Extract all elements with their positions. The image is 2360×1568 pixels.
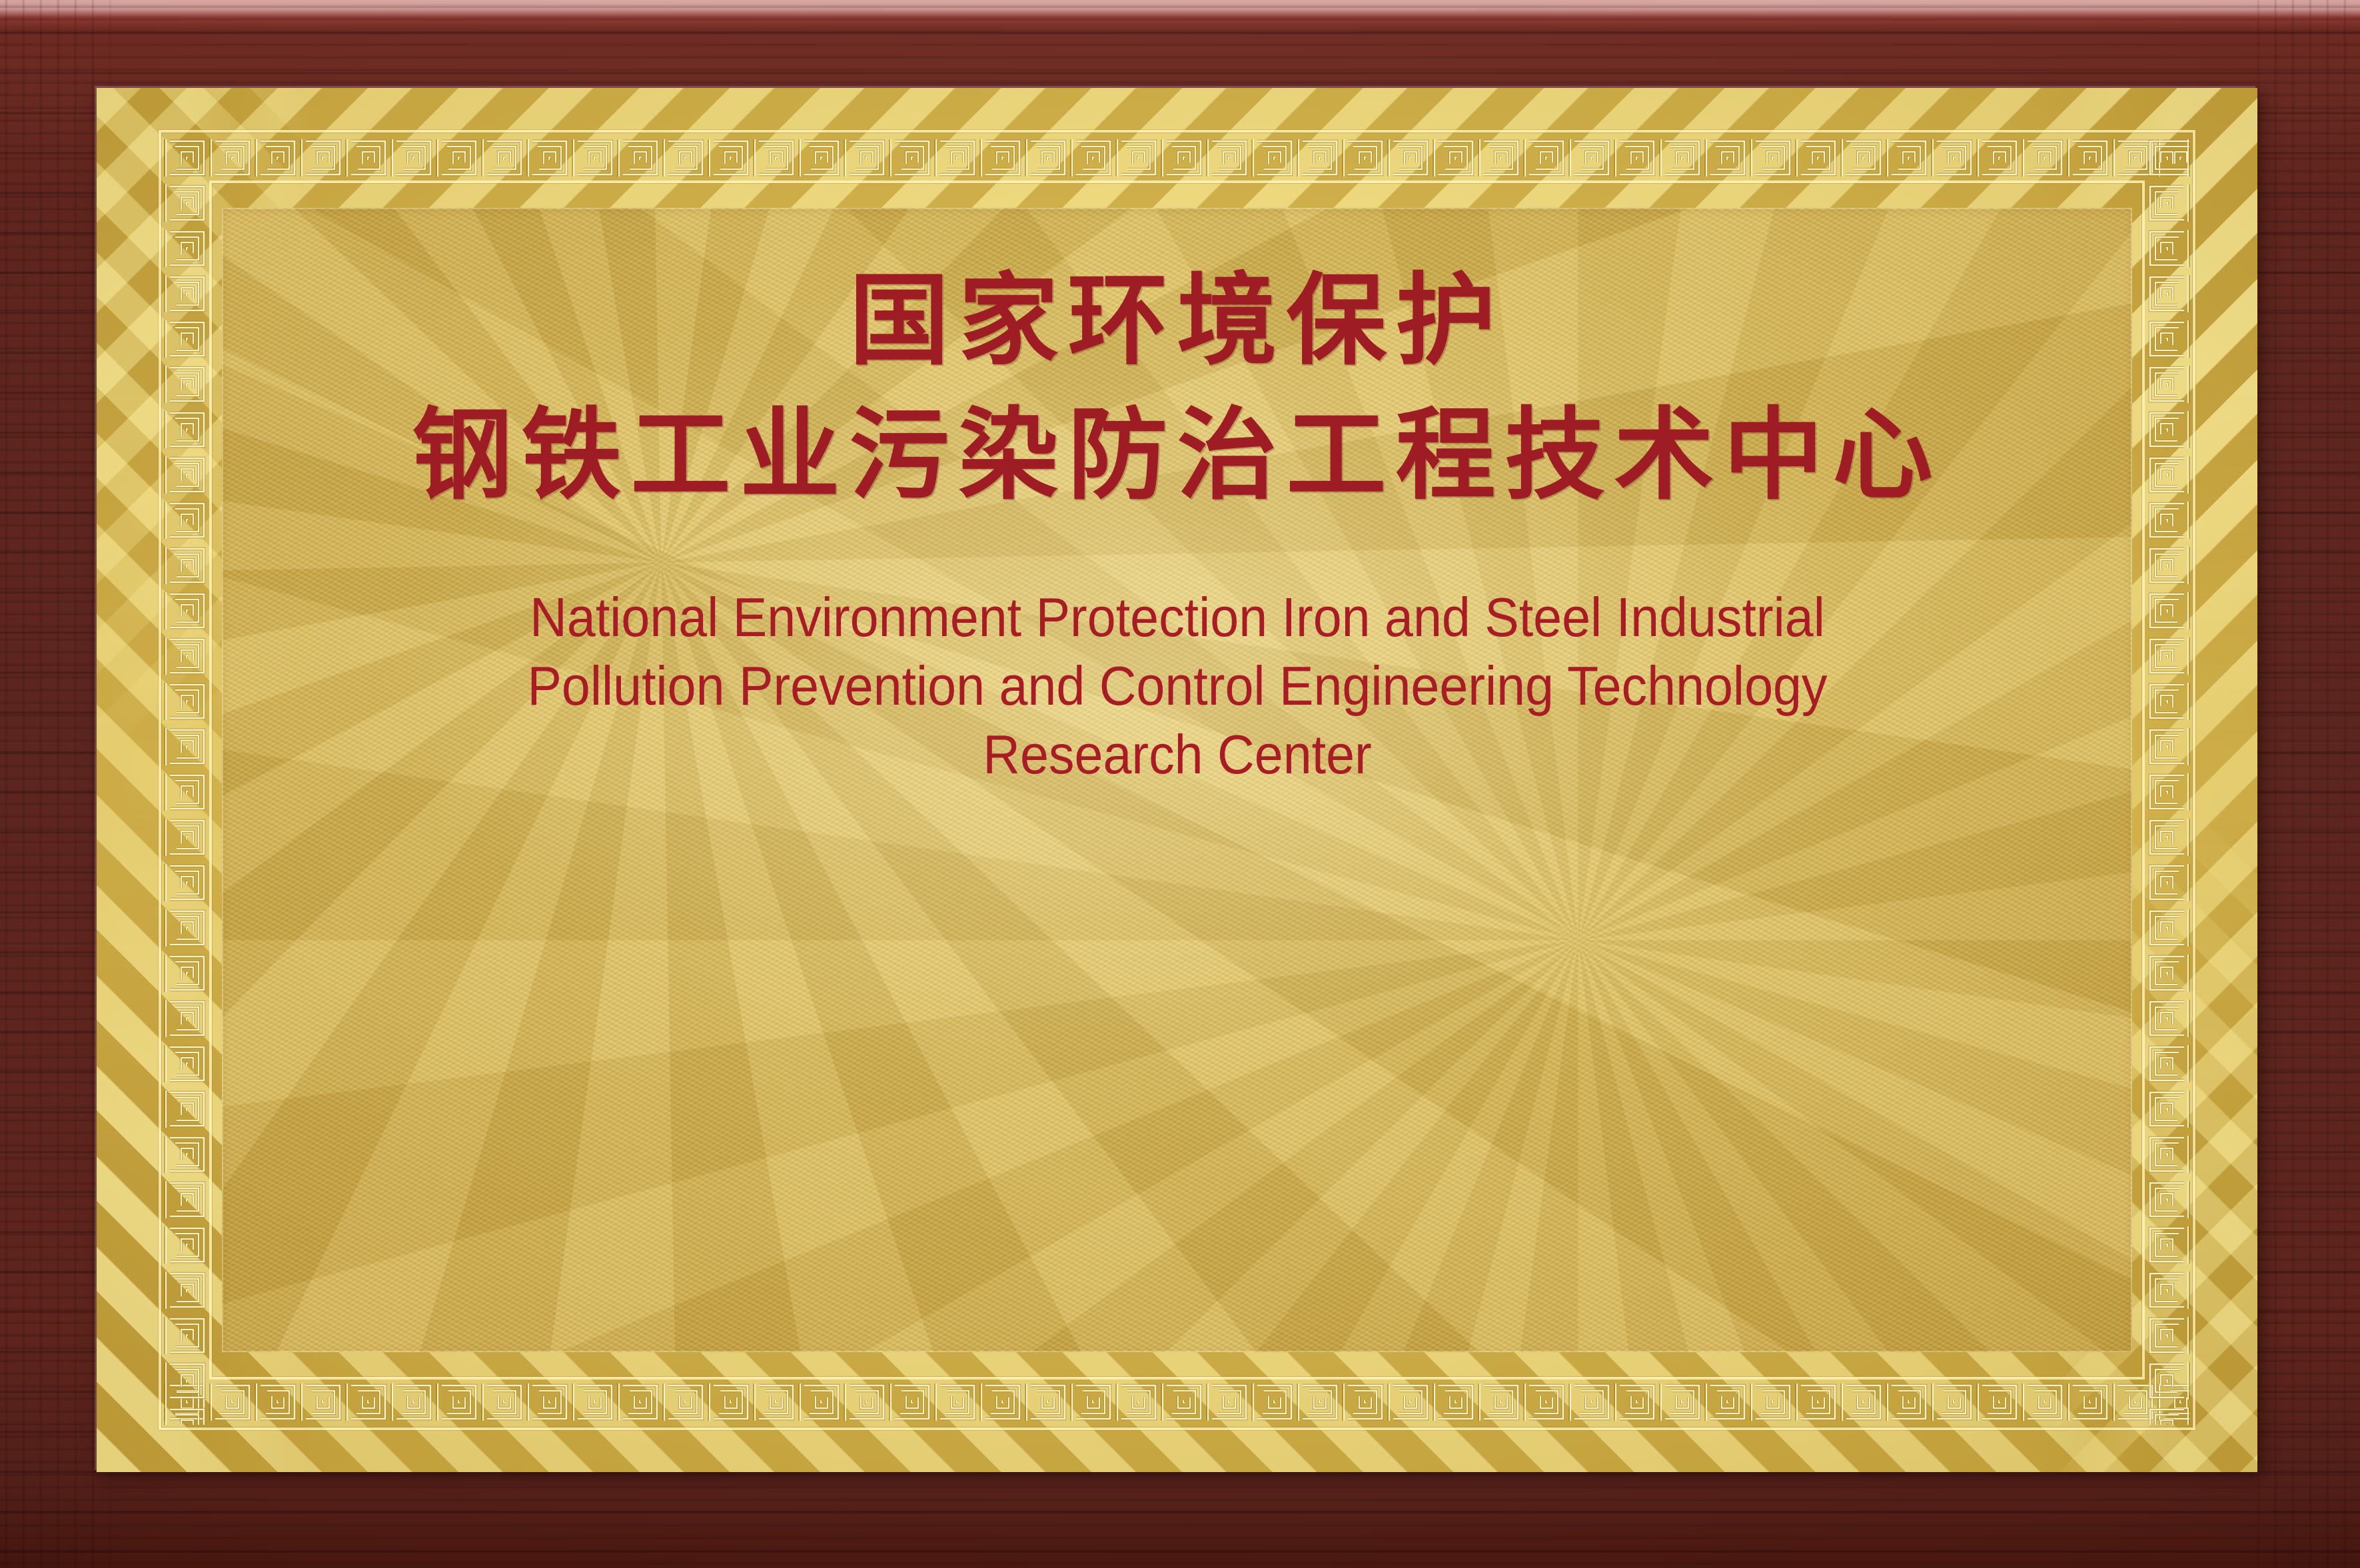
panel-sheen-overlay — [222, 208, 2132, 1352]
plaque-wood-frame: 国家环境保护 钢铁工业污染防治工程技术中心 National Environme… — [0, 0, 2360, 1568]
inscription-panel: 国家环境保护 钢铁工业污染防治工程技术中心 National Environme… — [222, 208, 2132, 1352]
english-title-block: National Environment Protection Iron and… — [418, 584, 1936, 789]
english-title-line-1: National Environment Protection Iron and… — [418, 584, 1936, 652]
english-title-line-3: Research Center — [418, 721, 1936, 789]
chinese-title-line-1: 国家环境保护 — [849, 270, 1504, 370]
chinese-title-line-2: 钢铁工业污染防治工程技术中心 — [412, 405, 1942, 505]
meander-band-bottom — [164, 1379, 2190, 1425]
meander-band-top — [164, 135, 2190, 181]
meander-band-left — [164, 135, 209, 1425]
inscription-text-stack: 国家环境保护 钢铁工业污染防治工程技术中心 National Environme… — [222, 208, 2132, 1352]
english-title-line-2: Pollution Prevention and Control Enginee… — [418, 652, 1936, 721]
gold-plate: 国家环境保护 钢铁工业污染防治工程技术中心 National Environme… — [97, 88, 2257, 1472]
meander-band-right — [2145, 135, 2190, 1425]
